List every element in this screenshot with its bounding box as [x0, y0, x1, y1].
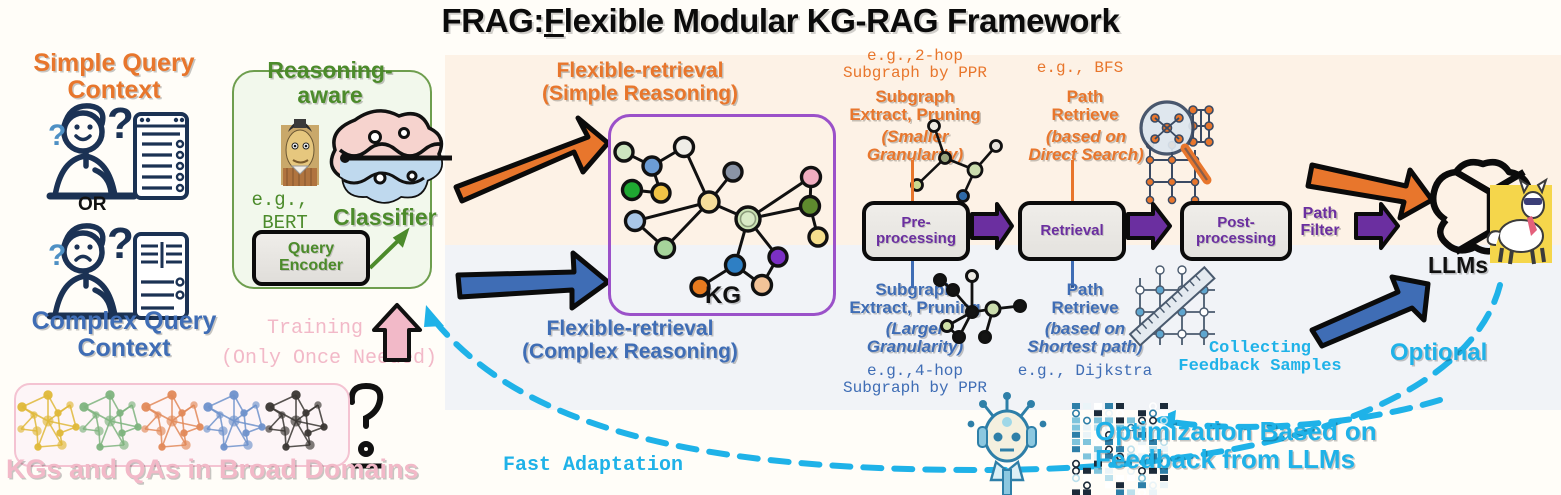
fast-adaptation-label: Fast Adaptation [503, 455, 683, 477]
optimization-feedback-label: Optimization Based on Feedback from LLMs [1095, 417, 1555, 473]
optional-label: Optional [1390, 340, 1487, 366]
diagram-canvas: FRAG:Flexible Modular KG-RAG Framework S… [0, 0, 1561, 495]
